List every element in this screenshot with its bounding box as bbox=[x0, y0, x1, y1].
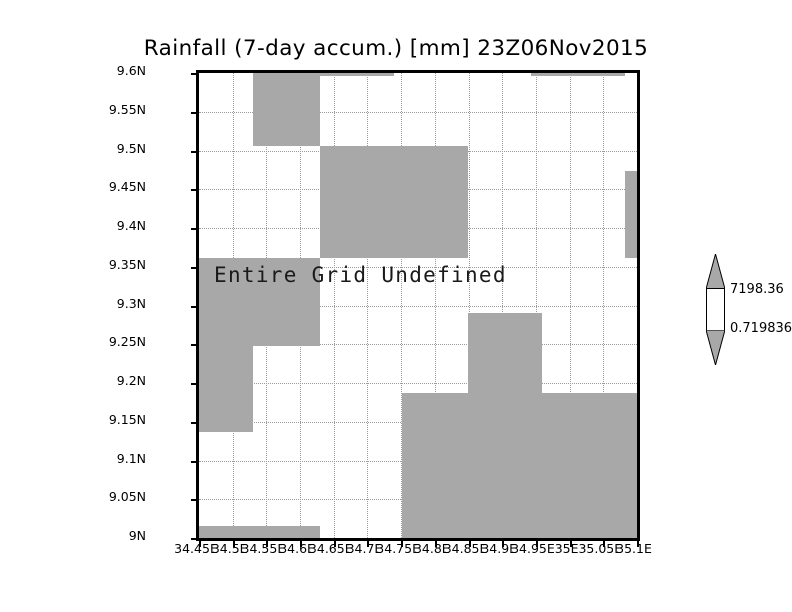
entire-grid-undefined-message: Entire Grid Undefined bbox=[214, 263, 507, 287]
colorbar-arrow-down-icon bbox=[706, 330, 725, 365]
y-axis-tick-label: 9.1N bbox=[100, 451, 146, 466]
undefined-region bbox=[402, 393, 637, 538]
plot-canvas bbox=[199, 73, 637, 538]
x-axis-tick-label: 35.1E bbox=[616, 541, 652, 556]
y-axis-tick-label: 9.3N bbox=[100, 296, 146, 311]
y-axis-tick-label: 9.45N bbox=[100, 179, 146, 194]
y-axis-tick bbox=[191, 383, 199, 385]
undefined-region bbox=[320, 73, 394, 76]
y-axis-tick bbox=[191, 461, 199, 463]
undefined-region bbox=[625, 171, 637, 258]
y-axis-tick bbox=[191, 189, 199, 191]
colorbar-swatch bbox=[706, 288, 725, 331]
y-axis-tick-label: 9.2N bbox=[100, 373, 146, 388]
undefined-region bbox=[253, 73, 320, 146]
gridline-horizontal bbox=[199, 383, 637, 384]
y-axis-tick bbox=[191, 112, 199, 114]
y-axis-tick-label: 9.15N bbox=[100, 412, 146, 427]
undefined-region bbox=[199, 526, 320, 538]
y-axis-tick bbox=[191, 422, 199, 424]
y-axis-tick-label: 9.5N bbox=[100, 141, 146, 156]
y-axis-tick bbox=[191, 538, 199, 540]
colorbar-high-label: 7198.36 bbox=[730, 282, 784, 297]
y-axis-tick bbox=[191, 228, 199, 230]
undefined-region bbox=[531, 73, 625, 76]
y-axis-tick-label: 9.05N bbox=[100, 489, 146, 504]
x-axis-tick-label: 34.95E bbox=[511, 541, 555, 556]
y-axis-tick-label: 9.6N bbox=[100, 63, 146, 78]
undefined-region bbox=[468, 526, 541, 538]
y-axis-tick-label: 9.4N bbox=[100, 218, 146, 233]
page-title: Rainfall (7-day accum.) [mm] 23Z06Nov201… bbox=[0, 36, 792, 61]
colorbar: 7198.36 0.719836 bbox=[700, 255, 790, 365]
y-axis-tick-label: 9.55N bbox=[100, 102, 146, 117]
y-axis-tick-label: 9N bbox=[100, 528, 146, 543]
y-axis-tick bbox=[191, 306, 199, 308]
plot-area bbox=[196, 70, 640, 541]
undefined-region bbox=[468, 313, 542, 393]
undefined-region bbox=[199, 346, 253, 432]
y-axis-tick bbox=[191, 267, 199, 269]
colorbar-low-label: 0.719836 bbox=[730, 321, 792, 336]
colorbar-arrow-up-icon bbox=[706, 254, 725, 289]
y-axis-tick bbox=[191, 499, 199, 501]
y-axis-tick bbox=[191, 344, 199, 346]
y-axis-tick bbox=[191, 73, 199, 75]
undefined-region bbox=[625, 526, 637, 538]
y-axis-tick-label: 9.35N bbox=[100, 257, 146, 272]
undefined-region bbox=[320, 146, 468, 258]
y-axis-tick bbox=[191, 151, 199, 153]
x-axis-tick-label: 35E bbox=[555, 541, 579, 556]
y-axis-tick-label: 9.25N bbox=[100, 334, 146, 349]
